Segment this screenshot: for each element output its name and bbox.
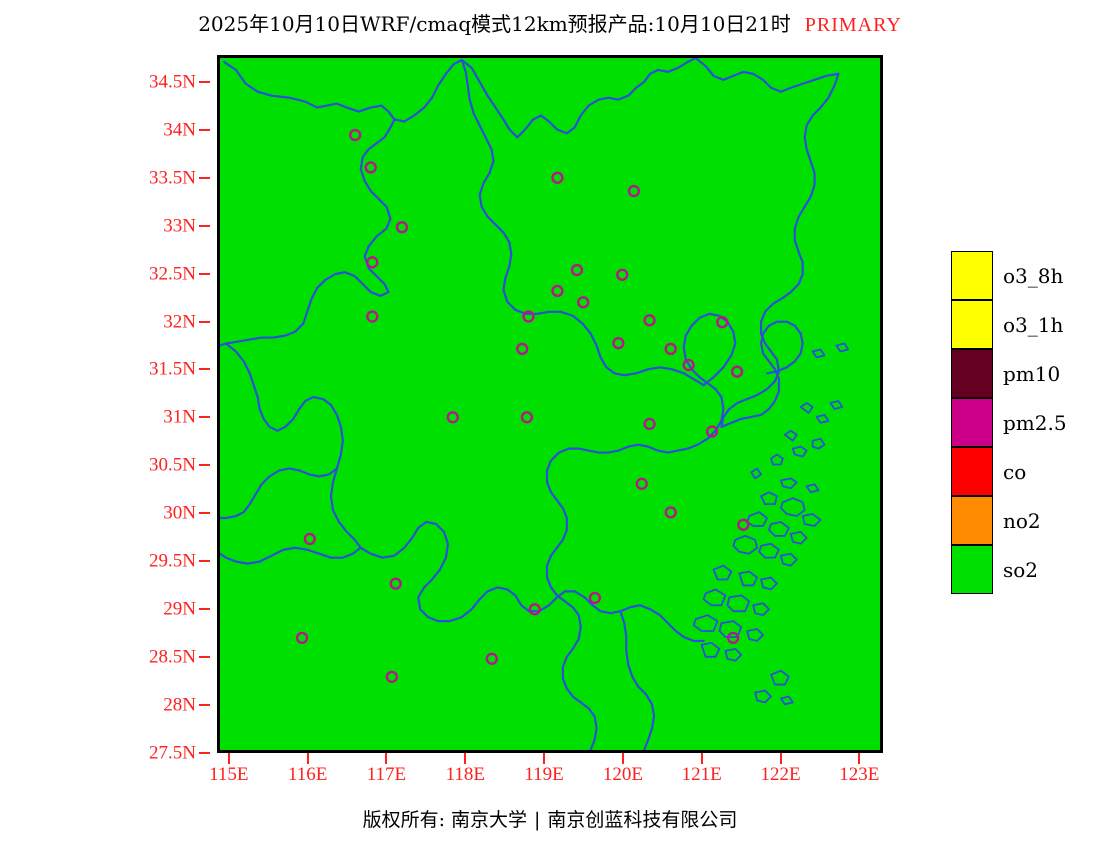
legend-item-pm10[interactable]: pm10 (951, 349, 1096, 398)
y-tick-label-33.5N: 33.5N (149, 168, 196, 187)
x-tick-mark (701, 753, 703, 764)
x-tick-mark (543, 753, 545, 764)
legend-item-pm2.5[interactable]: pm2.5 (951, 398, 1096, 447)
legend-label-pm2.5: pm2.5 (1003, 413, 1067, 433)
y-tick-label-30N: 30N (163, 504, 196, 523)
station-marker[interactable] (732, 367, 742, 377)
map-geometry (220, 58, 880, 750)
legend-swatch-o3_1h (951, 300, 993, 349)
station-marker[interactable] (367, 257, 377, 267)
x-tick-label-120E: 120E (603, 765, 643, 784)
x-tick-label-116E: 116E (288, 765, 327, 784)
y-tick-label-29N: 29N (163, 600, 196, 619)
legend-swatch-so2 (951, 545, 993, 594)
x-tick-label-119E: 119E (524, 765, 563, 784)
x-tick-mark (780, 753, 782, 764)
y-tick-mark (199, 704, 210, 706)
y-tick-label-30.5N: 30.5N (149, 456, 196, 475)
y-tick-label-28.5N: 28.5N (149, 648, 196, 667)
y-tick-mark (199, 560, 210, 562)
station-marker[interactable] (297, 633, 307, 643)
footer-copyright: 版权所有: 南京大学|南京创蓝科技有限公司 (0, 808, 1100, 832)
y-tick-label-34N: 34N (163, 120, 196, 139)
station-marker[interactable] (578, 297, 588, 307)
station-marker[interactable] (530, 604, 540, 614)
y-tick-label-33N: 33N (163, 216, 196, 235)
x-tick-label-117E: 117E (367, 765, 406, 784)
y-tick-label-32N: 32N (163, 312, 196, 331)
station-marker-group (297, 130, 748, 682)
x-tick-mark (622, 753, 624, 764)
x-tick-mark (464, 753, 466, 764)
title-primary-label: PRIMARY (805, 14, 902, 36)
station-marker[interactable] (487, 654, 497, 664)
station-marker[interactable] (629, 186, 639, 196)
x-tick-label-118E: 118E (446, 765, 485, 784)
station-marker[interactable] (517, 344, 527, 354)
y-tick-label-31N: 31N (163, 408, 196, 427)
station-marker[interactable] (366, 162, 376, 172)
legend: o3_8ho3_1hpm10pm2.5cono2so2 (951, 251, 1096, 594)
y-tick-mark (199, 752, 210, 754)
page-title: 2025年10月10日WRF/cmaq模式12km预报产品:10月10日21时P… (0, 12, 1100, 37)
x-tick-label-122E: 122E (760, 765, 800, 784)
map-plot-area[interactable] (217, 55, 883, 753)
y-tick-mark (199, 368, 210, 370)
legend-swatch-o3_8h (951, 251, 993, 300)
y-tick-mark (199, 321, 210, 323)
station-marker[interactable] (590, 593, 600, 603)
station-marker[interactable] (367, 312, 377, 322)
y-tick-label-27.5N: 27.5N (149, 744, 196, 763)
footer-left-text: 版权所有: 南京大学 (363, 809, 527, 831)
y-tick-mark (199, 608, 210, 610)
y-tick-mark (199, 656, 210, 658)
y-axis: 34.5N34N33.5N33N32.5N32N31.5N31N30.5N30N… (0, 55, 210, 753)
station-marker[interactable] (645, 315, 655, 325)
legend-swatch-pm10 (951, 349, 993, 398)
y-tick-mark (199, 177, 210, 179)
station-marker[interactable] (387, 672, 397, 682)
legend-swatch-no2 (951, 496, 993, 545)
legend-label-no2: no2 (1003, 511, 1041, 531)
y-tick-label-29.5N: 29.5N (149, 552, 196, 571)
legend-label-so2: so2 (1003, 560, 1038, 580)
station-marker[interactable] (613, 338, 623, 348)
legend-swatch-co (951, 447, 993, 496)
x-axis: 115E116E117E118E119E120E121E122E123E (217, 753, 883, 798)
legend-item-no2[interactable]: no2 (951, 496, 1096, 545)
station-marker[interactable] (552, 173, 562, 183)
x-tick-label-121E: 121E (682, 765, 722, 784)
station-marker[interactable] (738, 520, 748, 530)
y-tick-mark (199, 512, 210, 514)
y-tick-mark (199, 273, 210, 275)
station-marker[interactable] (305, 534, 315, 544)
legend-item-so2[interactable]: so2 (951, 545, 1096, 594)
x-tick-mark (228, 753, 230, 764)
x-tick-label-115E: 115E (209, 765, 248, 784)
y-tick-mark (199, 416, 210, 418)
y-tick-label-34.5N: 34.5N (149, 72, 196, 91)
legend-swatch-pm2.5 (951, 398, 993, 447)
y-tick-mark (199, 225, 210, 227)
legend-item-co[interactable]: co (951, 447, 1096, 496)
x-tick-label-123E: 123E (839, 765, 879, 784)
x-tick-mark (858, 753, 860, 764)
y-tick-mark (199, 81, 210, 83)
station-marker[interactable] (666, 344, 676, 354)
x-tick-mark (385, 753, 387, 764)
x-tick-mark (307, 753, 309, 764)
y-tick-mark (199, 129, 210, 131)
station-marker[interactable] (391, 579, 401, 589)
station-marker[interactable] (522, 412, 532, 422)
station-marker[interactable] (350, 130, 360, 140)
station-marker[interactable] (552, 286, 562, 296)
station-marker[interactable] (645, 419, 655, 429)
station-marker[interactable] (666, 507, 676, 517)
legend-label-o3_8h: o3_8h (1003, 266, 1063, 286)
station-marker[interactable] (572, 265, 582, 275)
station-marker[interactable] (637, 479, 647, 489)
title-main-text: 2025年10月10日WRF/cmaq模式12km预报产品:10月10日21时 (198, 12, 791, 36)
station-marker[interactable] (617, 270, 627, 280)
y-tick-label-31.5N: 31.5N (149, 360, 196, 379)
y-tick-label-32.5N: 32.5N (149, 264, 196, 283)
legend-item-o3_1h[interactable]: o3_1h (951, 300, 1096, 349)
footer-separator: | (527, 808, 547, 832)
legend-label-o3_1h: o3_1h (1003, 315, 1063, 335)
footer-right-text: 南京创蓝科技有限公司 (547, 809, 737, 831)
legend-label-co: co (1003, 462, 1026, 482)
legend-label-pm10: pm10 (1003, 364, 1060, 384)
y-tick-label-28N: 28N (163, 696, 196, 715)
station-marker[interactable] (448, 412, 458, 422)
station-marker[interactable] (397, 222, 407, 232)
y-tick-mark (199, 464, 210, 466)
legend-item-o3_8h[interactable]: o3_8h (951, 251, 1096, 300)
